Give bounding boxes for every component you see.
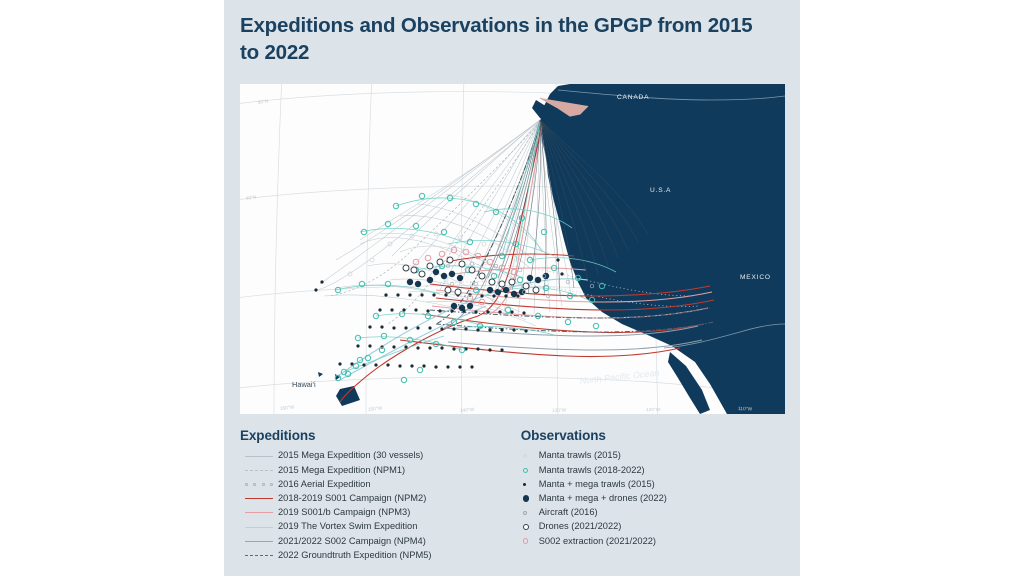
page-title: Expeditions and Observations in the GPGP… <box>240 12 770 67</box>
white-circle-dark-outline-icon <box>521 520 539 534</box>
map-canvas: CANADA U.S.A MEXICO Hawai'i North Pacifi… <box>240 84 785 414</box>
legend-label: Manta + mega + drones (2022) <box>539 494 667 503</box>
legend-item-vortex-swim-expedition[interactable]: 2019 The Vortex Swim Expedition <box>240 520 493 534</box>
faint-open-circle-icon <box>521 449 539 463</box>
gpgp-expedition-map[interactable]: CANADA U.S.A MEXICO Hawai'i North Pacifi… <box>240 84 785 414</box>
legend-expeditions-heading: Expeditions <box>240 428 493 443</box>
legend-item-manta-trawls-2015[interactable]: Manta trawls (2015) <box>521 449 788 463</box>
swatch-red-solid <box>240 492 278 506</box>
label-hawaii: Hawai'i <box>292 380 316 389</box>
swatch-grey-dashed <box>240 463 278 477</box>
legend-label: Drones (2021/2022) <box>539 522 622 531</box>
label-mexico: MEXICO <box>740 274 771 281</box>
legend-item-groundtruth-expedition-npm5[interactable]: 2022 Groundtruth Expedition (NPM5) <box>240 548 493 562</box>
legend-label: 2021/2022 S002 Campaign (NPM4) <box>278 537 426 546</box>
lon-label-140w: 140°W <box>460 407 475 414</box>
legend-label: Aircraft (2016) <box>539 508 598 517</box>
rose-open-circle-icon <box>521 534 539 548</box>
legend-label: S002 extraction (2021/2022) <box>539 537 656 546</box>
legend-item-s002-extraction-2021-2022[interactable]: S002 extraction (2021/2022) <box>521 534 788 548</box>
legend-item-mega-expedition-npm1[interactable]: 2015 Mega Expedition (NPM1) <box>240 463 493 477</box>
legend-expeditions: Expeditions 2015 Mega Expedition (30 ves… <box>240 428 493 560</box>
legend-label: Manta + mega trawls (2015) <box>539 480 655 489</box>
legend-item-mega-expedition-30-vessels[interactable]: 2015 Mega Expedition (30 vessels) <box>240 449 493 463</box>
legend-label: 2015 Mega Expedition (NPM1) <box>278 466 405 475</box>
legend-item-s001-campaign-npm2[interactable]: 2018-2019 S001 Campaign (NPM2) <box>240 492 493 506</box>
black-filled-dot-icon <box>521 477 539 491</box>
lon-label-110w: 110°W <box>738 406 753 413</box>
lon-label-120w: 120°W <box>646 407 661 413</box>
legend-label: Manta trawls (2018-2022) <box>539 466 645 475</box>
legend-area: Expeditions 2015 Mega Expedition (30 ves… <box>240 428 788 560</box>
swatch-grey-solid <box>240 534 278 548</box>
tiny-grey-open-circle-icon <box>521 506 539 520</box>
legend-label: 2019 S001/b Campaign (NPM3) <box>278 508 410 517</box>
label-canada: CANADA <box>617 94 649 101</box>
legend-item-aerial-expedition-2016[interactable]: 2016 Aerial Expedition <box>240 477 493 491</box>
legend-label: 2022 Groundtruth Expedition (NPM5) <box>278 551 431 560</box>
navy-filled-circle-icon <box>521 492 539 506</box>
legend-label: Manta trawls (2015) <box>539 451 621 460</box>
swatch-lightblue-solid <box>240 520 278 534</box>
legend-item-s001b-campaign-npm3[interactable]: 2019 S001/b Campaign (NPM3) <box>240 506 493 520</box>
swatch-open-dots <box>240 477 278 491</box>
label-usa: U.S.A <box>650 187 671 194</box>
legend-observations-heading: Observations <box>521 428 788 443</box>
legend-item-s002-campaign-npm4[interactable]: 2021/2022 S002 Campaign (NPM4) <box>240 534 493 548</box>
legend-observations: Observations Manta trawls (2015) Manta t… <box>521 428 788 560</box>
infographic-screenshot: Expeditions and Observations in the GPGP… <box>0 0 1024 576</box>
legend-label: 2015 Mega Expedition (30 vessels) <box>278 451 423 460</box>
legend-label: 2018-2019 S001 Campaign (NPM2) <box>278 494 426 503</box>
swatch-grey-solid-thin <box>240 449 278 463</box>
lon-label-130w: 130°W <box>552 407 567 414</box>
legend-label: 2019 The Vortex Swim Expedition <box>278 522 417 531</box>
legend-item-aircraft-2016[interactable]: Aircraft (2016) <box>521 506 788 520</box>
legend-item-manta-mega-trawls-2015[interactable]: Manta + mega trawls (2015) <box>521 477 788 491</box>
legend-item-manta-trawls-2018-2022[interactable]: Manta trawls (2018-2022) <box>521 463 788 477</box>
legend-label: 2016 Aerial Expedition <box>278 480 371 489</box>
swatch-pink-solid <box>240 506 278 520</box>
legend-item-manta-mega-drones-2022[interactable]: Manta + mega + drones (2022) <box>521 492 788 506</box>
teal-open-circle-icon <box>521 463 539 477</box>
legend-item-drones-2021-2022[interactable]: Drones (2021/2022) <box>521 520 788 534</box>
swatch-dash-dot <box>240 548 278 562</box>
